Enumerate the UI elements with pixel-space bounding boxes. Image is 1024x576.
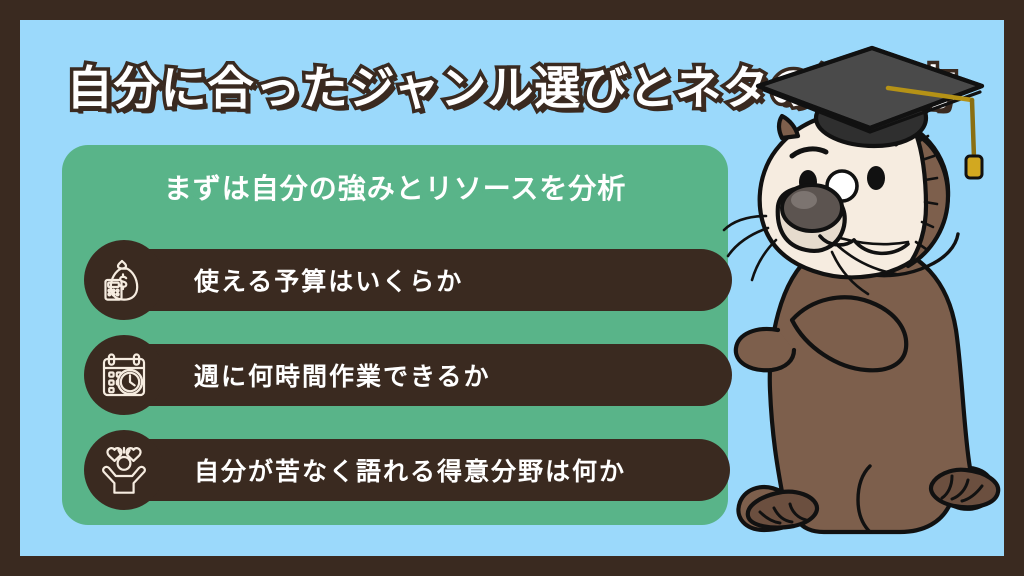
slide-root: 自分に合ったジャンル選びとネタの決め方 まずは自分の強みとリソースを分析 使える… (0, 0, 1024, 576)
panel-subtitle: まずは自分の強みとリソースを分析 (62, 167, 728, 207)
list-item-label: 自分が苦なく語れる得意分野は何か (194, 452, 626, 488)
list-item-label: 使える予算はいくらか (194, 262, 463, 298)
person-raised-arms-hearts-icon (84, 430, 164, 510)
list-item-pill[interactable]: 週に何時間作業できるか (112, 344, 732, 406)
content-panel: まずは自分の強みとリソースを分析 使える予算はいくらか (62, 145, 728, 525)
list-item-pill[interactable]: 使える予算はいくらか (112, 249, 732, 311)
calendar-clock-icon (84, 335, 164, 415)
money-bag-calculator-icon (84, 240, 164, 320)
slide-canvas: 自分に合ったジャンル選びとネタの決め方 まずは自分の強みとリソースを分析 使える… (20, 20, 1004, 556)
list-item-pill[interactable]: 自分が苦なく語れる得意分野は何か (112, 439, 730, 501)
list-item-label: 週に何時間作業できるか (194, 357, 491, 393)
otter-graduate-mascot (720, 30, 1004, 556)
